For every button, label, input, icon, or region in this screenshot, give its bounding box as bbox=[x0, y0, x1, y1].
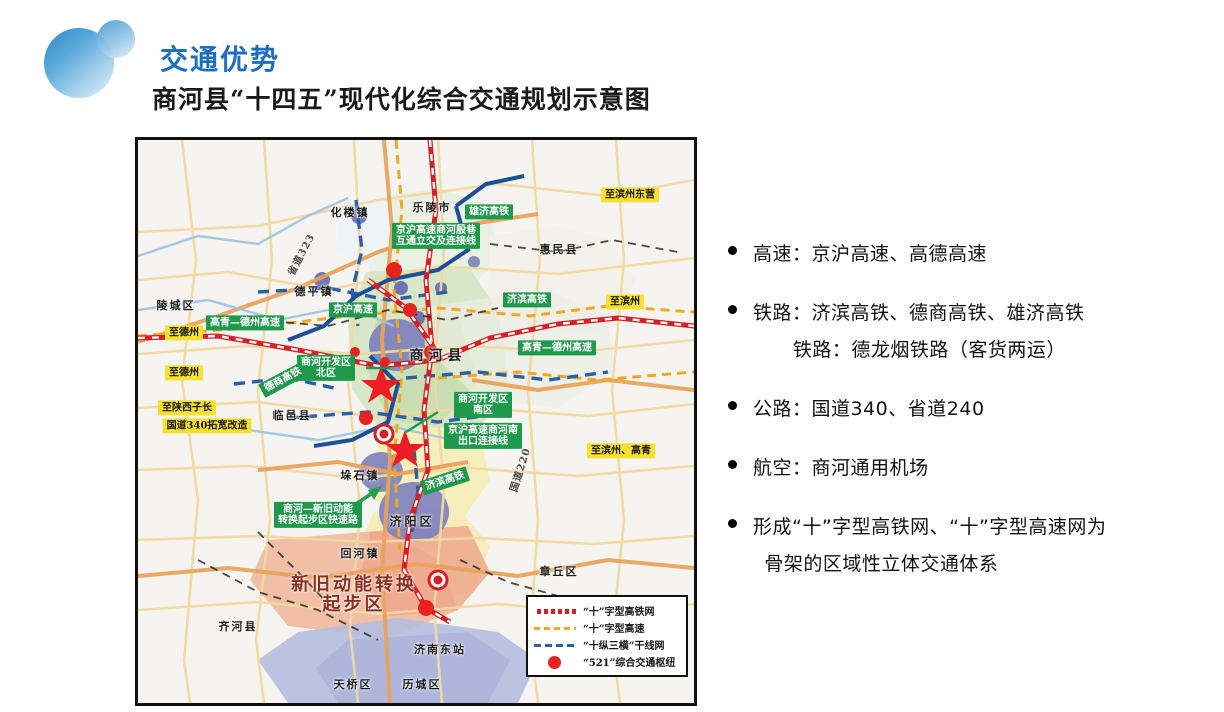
map-place-label: 化楼镇 bbox=[331, 207, 370, 219]
page-title: 交通优势 bbox=[160, 38, 280, 78]
list-item-line: 骨架的区域性立体交通体系 bbox=[753, 546, 1106, 583]
legend-label: “十”字型高速 bbox=[583, 620, 645, 635]
map-place-label: 临邑县 bbox=[273, 410, 312, 422]
map-legend: “十”字型高铁网 “十”字型高速 “十纵三横”干线网 “521”综合交通枢纽 bbox=[526, 595, 688, 677]
map-place-label: 德平镇 bbox=[295, 286, 334, 298]
list-item-line: 公路：国道340、省道240 bbox=[753, 391, 985, 428]
map-chip-gaoqing-dezhou-expwy-east: 高青—德州高速 bbox=[518, 340, 596, 355]
list-item: 高速：京沪高速、高德高速 bbox=[728, 236, 1208, 273]
map-chip-jibin-hsr: 济滨高铁 bbox=[503, 292, 551, 307]
map-chip-to-shaanxi-zichang: 至陕西子长 bbox=[158, 400, 216, 415]
legend-row: “521”综合交通枢纽 bbox=[532, 653, 682, 670]
list-item-line: 铁路：德龙烟铁路（客货两运） bbox=[753, 332, 1085, 369]
legend-key-hub-icon bbox=[532, 656, 578, 668]
map-place-label: 陵城区 bbox=[157, 300, 196, 312]
legend-label: “十纵三横”干线网 bbox=[583, 637, 665, 652]
map-chip-jinghu-expwy: 京沪高速 bbox=[329, 302, 377, 317]
map-place-label: 历城区 bbox=[403, 679, 442, 691]
map-place-label: 济南东站 bbox=[414, 644, 466, 656]
map-place-label-shanghe: 商河县 bbox=[410, 349, 467, 365]
map-place-label: 惠民县 bbox=[540, 244, 579, 256]
map-place-label: 章丘区 bbox=[540, 566, 579, 578]
map-chip-to-binzhou: 至滨州 bbox=[606, 294, 644, 309]
bullet-dot-icon bbox=[728, 460, 737, 469]
legend-label: “十”字型高铁网 bbox=[583, 603, 655, 618]
list-item-line: 形成“十”字型高铁网、“十”字型高速网为 bbox=[753, 509, 1106, 546]
legend-key-hsr-icon bbox=[532, 605, 578, 617]
map-chip-to-dezhou-a: 至德州 bbox=[165, 325, 203, 340]
map-chip-to-binzhou-gaoqing: 至滨州、高青 bbox=[587, 443, 655, 458]
list-item-text: 铁路：济滨高铁、德商高铁、雄济高铁 铁路：德龙烟铁路（客货两运） bbox=[753, 295, 1085, 369]
map-chip-to-binzhou-dongying: 至滨州东营 bbox=[601, 187, 659, 202]
map-chip-development-zone-south: 商河开发区 南区 bbox=[454, 392, 512, 418]
bullet-dot-icon bbox=[728, 305, 737, 314]
map-chip-shanghe-startup-expressway: 商河—新旧动能 转换起步区快速路 bbox=[274, 502, 362, 528]
legend-key-trunk-icon bbox=[532, 639, 578, 651]
list-item-text: 形成“十”字型高铁网、“十”字型高速网为 骨架的区域性立体交通体系 bbox=[753, 509, 1106, 583]
list-item: 铁路：济滨高铁、德商高铁、雄济高铁 铁路：德龙烟铁路（客货两运） bbox=[728, 295, 1208, 369]
transport-plan-map[interactable]: 化楼镇 乐陵市 德平镇 陵城区 惠民县 临邑县 商河县 垛石镇 济阳区 回河镇 … bbox=[135, 137, 697, 706]
logo-mark bbox=[44, 20, 156, 98]
legend-key-expressway-icon bbox=[532, 622, 578, 634]
list-item: 公路：国道340、省道240 bbox=[728, 391, 1208, 428]
legend-row: “十纵三横”干线网 bbox=[532, 636, 682, 653]
map-chip-development-zone-north: 商河开发区 北区 bbox=[297, 355, 355, 381]
map-chip-g340-widening: 国道340拓宽改造 bbox=[163, 418, 252, 433]
map-place-label: 回河镇 bbox=[341, 548, 380, 560]
map-place-label: 济阳区 bbox=[389, 515, 434, 528]
map-place-label: 垛石镇 bbox=[341, 470, 380, 482]
map-chip-jinghu-yinxiang-interchange: 京沪高速商河殷巷 互通立交及连接线 bbox=[392, 223, 480, 249]
map-place-label: 乐陵市 bbox=[413, 202, 452, 214]
map-place-label: 天桥区 bbox=[334, 679, 373, 691]
legend-row: “十”字型高铁网 bbox=[532, 602, 682, 619]
list-item-text: 公路：国道340、省道240 bbox=[753, 391, 985, 428]
map-chip-jinghu-south-exit-link: 京沪高速商河南 出口连接线 bbox=[444, 423, 522, 449]
legend-label: “521”综合交通枢纽 bbox=[583, 654, 675, 669]
list-item: 形成“十”字型高铁网、“十”字型高速网为 骨架的区域性立体交通体系 bbox=[728, 509, 1208, 583]
legend-row: “十”字型高速 bbox=[532, 619, 682, 636]
list-item-line: 高速：京沪高速、高德高速 bbox=[753, 236, 987, 273]
map-chip-xiongji-hsr: 雄济高铁 bbox=[465, 204, 513, 219]
map-caption: 商河县“十四五”现代化综合交通规划示意图 bbox=[152, 80, 651, 116]
map-area-label-startup-zone: 新旧动能转换 起步区 bbox=[291, 575, 417, 615]
logo-circle-small-icon bbox=[97, 20, 135, 58]
transport-advantages-list: 高速：京沪高速、高德高速 铁路：济滨高铁、德商高铁、雄济高铁 铁路：德龙烟铁路（… bbox=[728, 236, 1208, 605]
list-item-text: 航空：商河通用机场 bbox=[753, 450, 929, 487]
map-chip-gaoqing-dezhou-expwy: 高青—德州高速 bbox=[206, 315, 284, 330]
bullet-dot-icon bbox=[728, 519, 737, 528]
map-place-label: 齐河县 bbox=[219, 621, 258, 633]
bullet-dot-icon bbox=[728, 246, 737, 255]
list-item-text: 高速：京沪高速、高德高速 bbox=[753, 236, 987, 273]
list-item-line: 铁路：济滨高铁、德商高铁、雄济高铁 bbox=[753, 295, 1085, 332]
map-chip-to-dezhou-b: 至德州 bbox=[165, 365, 203, 380]
list-item-line: 航空：商河通用机场 bbox=[753, 450, 929, 487]
list-item: 航空：商河通用机场 bbox=[728, 450, 1208, 487]
bullet-dot-icon bbox=[728, 401, 737, 410]
